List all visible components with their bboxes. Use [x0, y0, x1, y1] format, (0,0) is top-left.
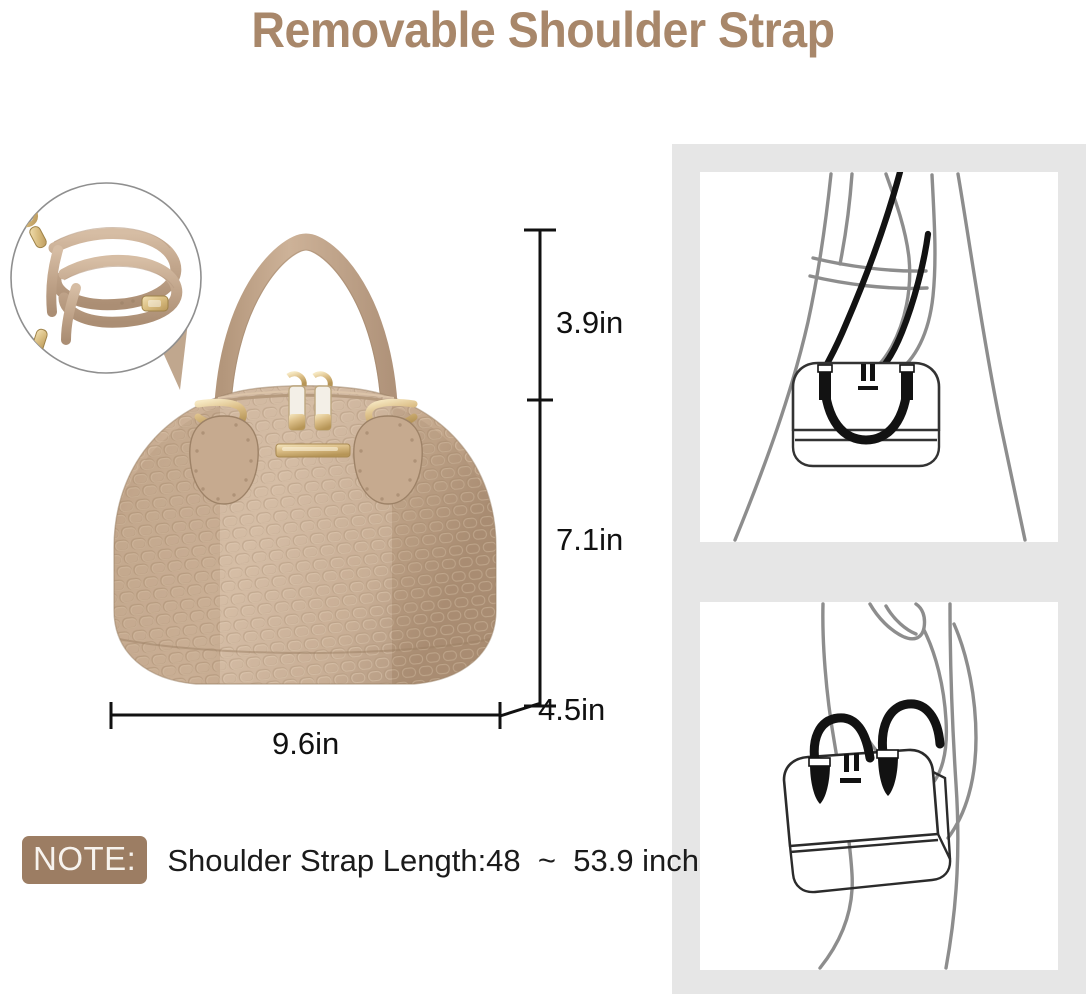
note-row: NOTE: Shoulder Strap Length:48 ~ 53.9 in… — [22, 836, 699, 884]
note-text: Shoulder Strap Length:48 ~ 53.9 inch — [167, 841, 699, 880]
dimension-depth-label: 4.5in — [538, 692, 605, 728]
usage-panel-crossbody — [700, 172, 1058, 542]
dimension-body-height-label: 7.1in — [556, 522, 623, 558]
dimension-height-label: 3.9in — [556, 305, 623, 341]
usage-panel-handheld — [700, 602, 1058, 970]
note-badge: NOTE: — [22, 836, 147, 884]
handbag-product-image — [70, 218, 540, 718]
infographic-canvas: Removable Shoulder Strap — [0, 0, 1086, 994]
page-title: Removable Shoulder Strap — [38, 0, 1048, 62]
dimension-width-label: 9.6in — [272, 726, 339, 762]
